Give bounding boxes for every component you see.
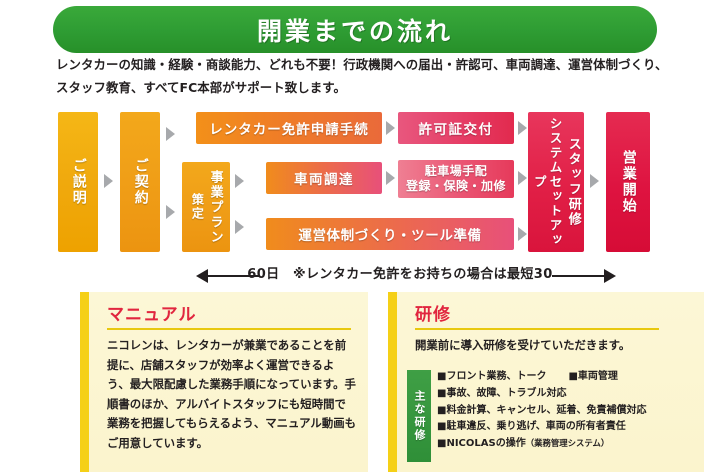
timeline: 60日 ※レンタカー免許をお持ちの場合は最短30日 (0, 260, 710, 292)
training-list-block: 主な研修 ■フロント業務、トーク■車両管理 ■事故、故障、トラブル対応 ■料金計… (407, 370, 705, 466)
manual-panel-title: マニュアル (107, 300, 197, 325)
arrow-right-icon (386, 121, 395, 135)
training-panel: 研修 開業前に導入研修を受けていただきます。 主な研修 ■フロント業務、トーク■… (388, 292, 704, 472)
flow-step-label: ご説明 (69, 158, 87, 206)
arrow-right-icon (518, 171, 527, 185)
flow-step-label: 許可証交付 (419, 118, 494, 138)
flow-step-label: 事業プラン (206, 170, 222, 245)
list-item-note: （業務管理システム） (526, 438, 610, 448)
list-item-label: 事故、故障、トラブル対応 (446, 388, 566, 399)
flow-step-business-start: 営業開始 (606, 112, 650, 252)
arrow-left-icon (196, 269, 208, 283)
training-panel-title: 研修 (415, 300, 451, 325)
flow-step-parking-arrangement: 駐車場手配 登録・保険・加修 (398, 160, 514, 198)
flow-step-label-sub: システムセットアップ (531, 112, 562, 252)
list-item-label: フロント業務、トーク (446, 371, 546, 382)
list-item: ■フロント業務、トーク■車両管理 (437, 369, 703, 386)
divider (107, 328, 351, 330)
training-panel-body: 開業前に導入研修を受けていただきます。 (415, 336, 687, 356)
flow-step-license-application: レンタカー免許申請手続 (196, 112, 382, 144)
arrow-right-icon (590, 174, 599, 188)
flow-step-label-sub: 登録・保険・加修 (406, 179, 506, 194)
arrow-right-icon (386, 171, 395, 185)
header-banner: 開業までの流れ (53, 6, 657, 53)
list-item-label: 料金計算、キャンセル、延着、免責補償対応 (446, 405, 646, 416)
flow-chart: ご説明 ご契約 策定 事業プラン レンタカー免許申請手続 車両調達 運営体制づく… (0, 110, 710, 260)
flow-step-label: 車両調達 (294, 168, 354, 188)
arrow-right-icon (235, 220, 244, 234)
flow-step-staff-training-system: システムセットアップ スタッフ研修 (528, 112, 584, 252)
list-item-label: NICOLASの操作 (446, 438, 525, 449)
arrow-right-icon (518, 121, 527, 135)
flow-step-label: ご契約 (131, 158, 149, 206)
flow-step-explanation: ご説明 (58, 112, 98, 252)
flow-step-label: スタッフ研修 (565, 137, 581, 227)
arrow-right-icon (518, 227, 527, 241)
list-item-label-2: 車両管理 (578, 371, 618, 382)
timeline-line (552, 275, 604, 277)
flow-step-label: 運営体制づくり・ツール準備 (298, 224, 481, 244)
list-item-label: 駐車違反、乗り逃げ、車両の所有者責任 (446, 421, 625, 432)
manual-panel-body: ニコレンは、レンタカーが兼業であることを前提に、店舗スタッフが効率よく運営できる… (107, 336, 357, 454)
list-item: ■NICOLASの操作（業務管理システム） (437, 436, 703, 453)
list-item: ■駐車違反、乗り逃げ、車両の所有者責任 (437, 419, 703, 436)
divider (415, 328, 659, 330)
flow-step-label: 営業開始 (619, 150, 637, 214)
arrow-right-icon (166, 127, 175, 141)
flow-step-label: 駐車場手配 (425, 164, 488, 179)
page-title: 開業までの流れ (257, 12, 453, 48)
arrow-right-icon (604, 269, 616, 283)
flow-step-business-plan: 策定 事業プラン (182, 162, 230, 252)
bullet-icon: ■ (568, 371, 577, 382)
training-tag-label: 主な研修 (407, 370, 431, 462)
training-list: ■フロント業務、トーク■車両管理 ■事故、故障、トラブル対応 ■料金計算、キャン… (437, 369, 703, 453)
arrow-right-icon (104, 174, 113, 188)
flow-step-permit-issued: 許可証交付 (398, 112, 514, 144)
arrow-right-icon (166, 205, 175, 219)
lead-paragraph: レンタカーの知識・経験・商談能力、どれも不要！行政機関への届出・許認可、車両調達… (56, 54, 668, 100)
flow-infographic: 開業までの流れ レンタカーの知識・経験・商談能力、どれも不要！行政機関への届出・… (0, 0, 710, 474)
flow-step-label-sub: 策定 (189, 193, 204, 221)
manual-panel: マニュアル ニコレンは、レンタカーが兼業であることを前提に、店舗スタッフが効率よ… (80, 292, 368, 472)
list-item: ■事故、故障、トラブル対応 (437, 386, 703, 403)
flow-step-label: レンタカー免許申請手続 (209, 118, 369, 138)
flow-step-contract: ご契約 (120, 112, 160, 252)
flow-step-operations-setup: 運営体制づくり・ツール準備 (266, 218, 514, 250)
list-item: ■料金計算、キャンセル、延着、免責補償対応 (437, 403, 703, 420)
flow-step-vehicle-procurement: 車両調達 (266, 162, 382, 194)
arrow-right-icon (235, 174, 244, 188)
